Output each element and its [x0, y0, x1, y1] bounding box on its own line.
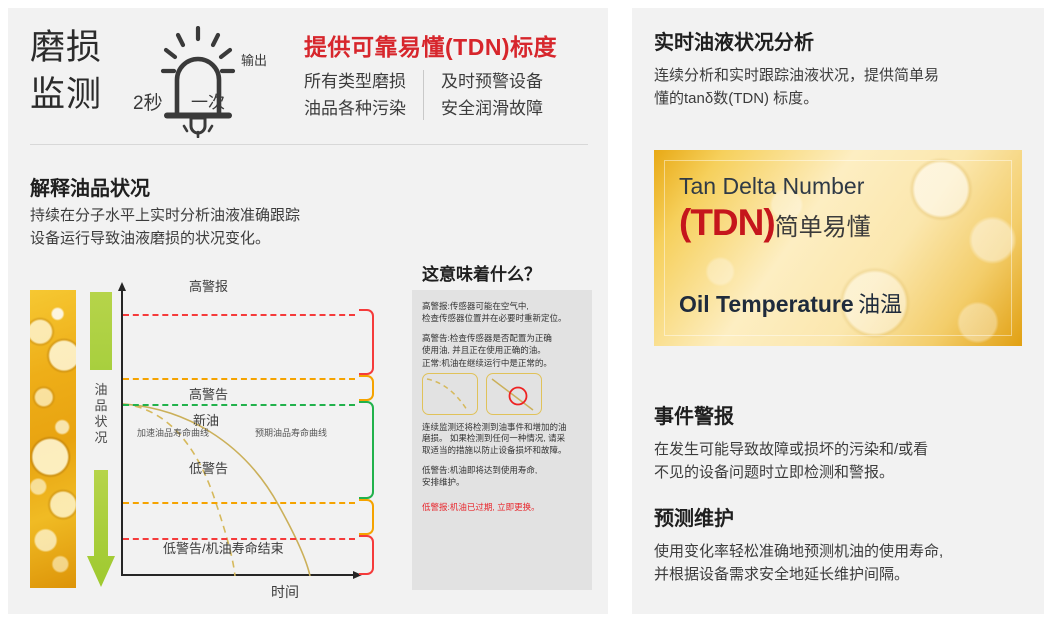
oil-temperature-row: Oil Temperature 油温 [679, 287, 902, 319]
bracket-low-alarm [359, 536, 373, 574]
chart-plot-area: 高警报 高警告 新油 低警告 低警告/机油寿命结束 加速油品寿命曲线 预期油品寿… [121, 290, 359, 586]
annot-p5-l2: 安排维护。 [422, 477, 582, 489]
oil-temperature-cn: 油温 [858, 292, 902, 317]
feature-column-1: 所有类型磨损 油品各种污染 [304, 68, 406, 122]
threshold-low-warning [123, 502, 355, 504]
mini-diagram-row [422, 373, 582, 415]
annot-p1-l2: 检查传感器位置并在必要时重新定位。 [422, 313, 582, 325]
oil-temperature-en: Oil Temperature [679, 291, 854, 317]
curve-label-expected: 预期油品寿命曲线 [255, 426, 327, 439]
condition-bar-top [90, 292, 112, 370]
section-event-alarm: 事件警报 在发生可能导致故障或损坏的污染和/或看 不见的设备问题时立即检测和警报… [654, 400, 928, 484]
section-predictive-maintenance: 预测维护 使用变化率轻松准确地预测机油的使用寿命, 并根据设备需求安全地延长维护… [654, 502, 943, 586]
predictive-maintenance-title: 预测维护 [654, 502, 943, 531]
zone-label-low-warning: 低警告 [189, 458, 228, 477]
tdn-card-inner: Tan Delta Number (TDN)简单易懂 Oil Temperatu… [664, 160, 1012, 336]
curve-label-accelerated: 加速油品寿命曲线 [137, 426, 209, 439]
feature-col2-line1: 及时预警设备 [441, 68, 543, 95]
infographic-page: 磨损 监测 [0, 0, 1052, 622]
annotation-normal: 正常:机油在继续运行中是正常的。 [422, 358, 582, 370]
red-alert-circle-icon [510, 387, 527, 404]
feature-col1-line2: 油品各种污染 [304, 95, 406, 122]
predictive-maintenance-body: 使用变化率轻松准确地预测机油的使用寿命, 并根据设备需求安全地延长维护间隔。 [654, 540, 943, 586]
wear-title-line1: 磨损 [30, 24, 102, 71]
realtime-line2: 懂的tanδ数(TDN) 标度。 [654, 87, 939, 110]
feature-columns: 所有类型磨损 油品各种污染 及时预警设备 安全润滑故障 [304, 68, 543, 122]
event-alarm-body: 在发生可能导致故障或损坏的污染和/或看 不见的设备问题时立即检测和警报。 [654, 438, 928, 484]
annot-p5-l1: 低警告:机油即将达到使用寿命, [422, 465, 582, 477]
lamp-once-label: 一次 [191, 88, 225, 113]
event-alarm-line1: 在发生可能导致故障或损坏的污染和/或看 [654, 438, 928, 461]
threshold-high-alarm [123, 314, 355, 316]
annotation-panel: 高警报:传感器可能在空气中, 检查传感器位置并在必要时重新定位。 高警告:检查传… [412, 290, 592, 590]
bracket-normal [359, 402, 373, 498]
bracket-high-warning [359, 376, 373, 400]
bracket-high-alarm [359, 310, 373, 374]
header-band: 磨损 监测 [8, 8, 608, 143]
annotation-low-alarm: 低警报:机油已过期, 立即更换。 [422, 502, 582, 514]
realtime-line1: 连续分析和实时跟踪油液状况，提供简单易 [654, 64, 939, 87]
explain-section-body: 持续在分子水平上实时分析油液准确跟踪 设备运行导致油液磨损的状况变化。 [30, 204, 300, 250]
explain-line2: 设备运行导致油液磨损的状况变化。 [30, 227, 300, 250]
condition-down-arrow-icon [86, 470, 116, 588]
annotation-continuous-monitoring: 连续监测还将检测到油事件和增加的油 磨损。 如果检测到任何一种情况, 请采 取适… [422, 422, 582, 457]
indicator-lamp-icon [155, 26, 241, 138]
left-panel: 磨损 监测 [8, 8, 608, 614]
threshold-new-oil [123, 404, 355, 406]
lamp-output-icon-group: 2秒 一次 输出 [133, 24, 278, 139]
annot-p3-l1: 正常:机油在继续运行中是正常的。 [422, 358, 582, 370]
lamp-output-label: 输出 [241, 50, 267, 69]
event-alarm-title: 事件警报 [654, 400, 928, 429]
tdn-feature-card: Tan Delta Number (TDN)简单易懂 Oil Temperatu… [654, 150, 1022, 346]
y-axis-label: 油品状况 [92, 382, 110, 446]
tdn-abbr-cn: 简单易懂 [775, 214, 871, 241]
annot-p4-l2: 磨损。 如果检测到任何一种情况, 请采 [422, 433, 582, 445]
event-alarm-line2: 不见的设备问题时立即检测和警报。 [654, 461, 928, 484]
mini-diagram-declining [422, 373, 478, 415]
section-realtime-analysis: 实时油液状况分析 连续分析和实时跟踪油液状况，提供简单易 懂的tanδ数(TDN… [654, 26, 939, 110]
event-detection-icon [487, 374, 540, 413]
zone-brackets [359, 290, 375, 586]
feature-col2-line2: 安全润滑故障 [441, 95, 543, 122]
header-divider [30, 144, 588, 145]
tdn-headline: 提供可靠易懂(TDN)标度 [304, 28, 557, 62]
wear-monitoring-title: 磨损 监测 [30, 24, 102, 118]
tdn-card-abbr-row: (TDN)简单易懂 [679, 202, 1011, 244]
predictive-line2: 并根据设备需求安全地延长维护间隔。 [654, 563, 943, 586]
tdn-card-title: Tan Delta Number [679, 173, 1011, 200]
oil-photo-strip [30, 290, 76, 588]
annot-p2-l2: 使用油, 并且正在使用正确的油。 [422, 345, 582, 357]
realtime-analysis-body: 连续分析和实时跟踪油液状况，提供简单易 懂的tanδ数(TDN) 标度。 [654, 64, 939, 110]
zone-label-oil-end: 低警告/机油寿命结束 [163, 538, 284, 557]
x-axis-label: 时间 [271, 582, 299, 602]
annot-p1-l1: 高警报:传感器可能在空气中, [422, 301, 582, 313]
predictive-line1: 使用变化率轻松准确地预测机油的使用寿命, [654, 540, 943, 563]
annotation-high-alarm: 高警报:传感器可能在空气中, 检查传感器位置并在必要时重新定位。 [422, 301, 582, 324]
threshold-high-warning [123, 378, 355, 380]
wear-title-line2: 监测 [30, 71, 102, 118]
tdn-abbr: (TDN) [679, 202, 775, 243]
annot-p2-l1: 高警告:检查传感器是否配置为正确 [422, 333, 582, 345]
mini-diagram-event [486, 373, 542, 415]
realtime-analysis-title: 实时油液状况分析 [654, 26, 939, 55]
declining-curve-icon [423, 374, 476, 413]
right-panel: 实时油液状况分析 连续分析和实时跟踪油液状况，提供简单易 懂的tanδ数(TDN… [632, 8, 1044, 614]
explain-line1: 持续在分子水平上实时分析油液准确跟踪 [30, 204, 300, 227]
annotation-high-warning: 高警告:检查传感器是否配置为正确 使用油, 并且正在使用正确的油。 [422, 333, 582, 356]
feature-column-2: 及时预警设备 安全润滑故障 [441, 68, 543, 122]
feature-divider [423, 70, 424, 120]
zone-label-high-warning: 高警告 [189, 384, 228, 403]
annot-p4-l3: 取适当的措施以防止设备损坏和故障。 [422, 445, 582, 457]
annot-p6-l1: 低警报:机油已过期, 立即更换。 [422, 502, 582, 514]
feature-col1-line1: 所有类型磨损 [304, 68, 406, 95]
lamp-interval-label: 2秒 [133, 88, 163, 115]
bracket-low-warning [359, 500, 373, 534]
zone-label-high-alarm: 高警报 [189, 276, 228, 295]
explain-section-title: 解释油品状况 [30, 172, 150, 201]
annot-p4-l1: 连续监测还将检测到油事件和增加的油 [422, 422, 582, 434]
annotation-low-warning: 低警告:机油即将达到使用寿命, 安排维护。 [422, 465, 582, 488]
condition-axis-group: 油品状况 [84, 290, 118, 588]
